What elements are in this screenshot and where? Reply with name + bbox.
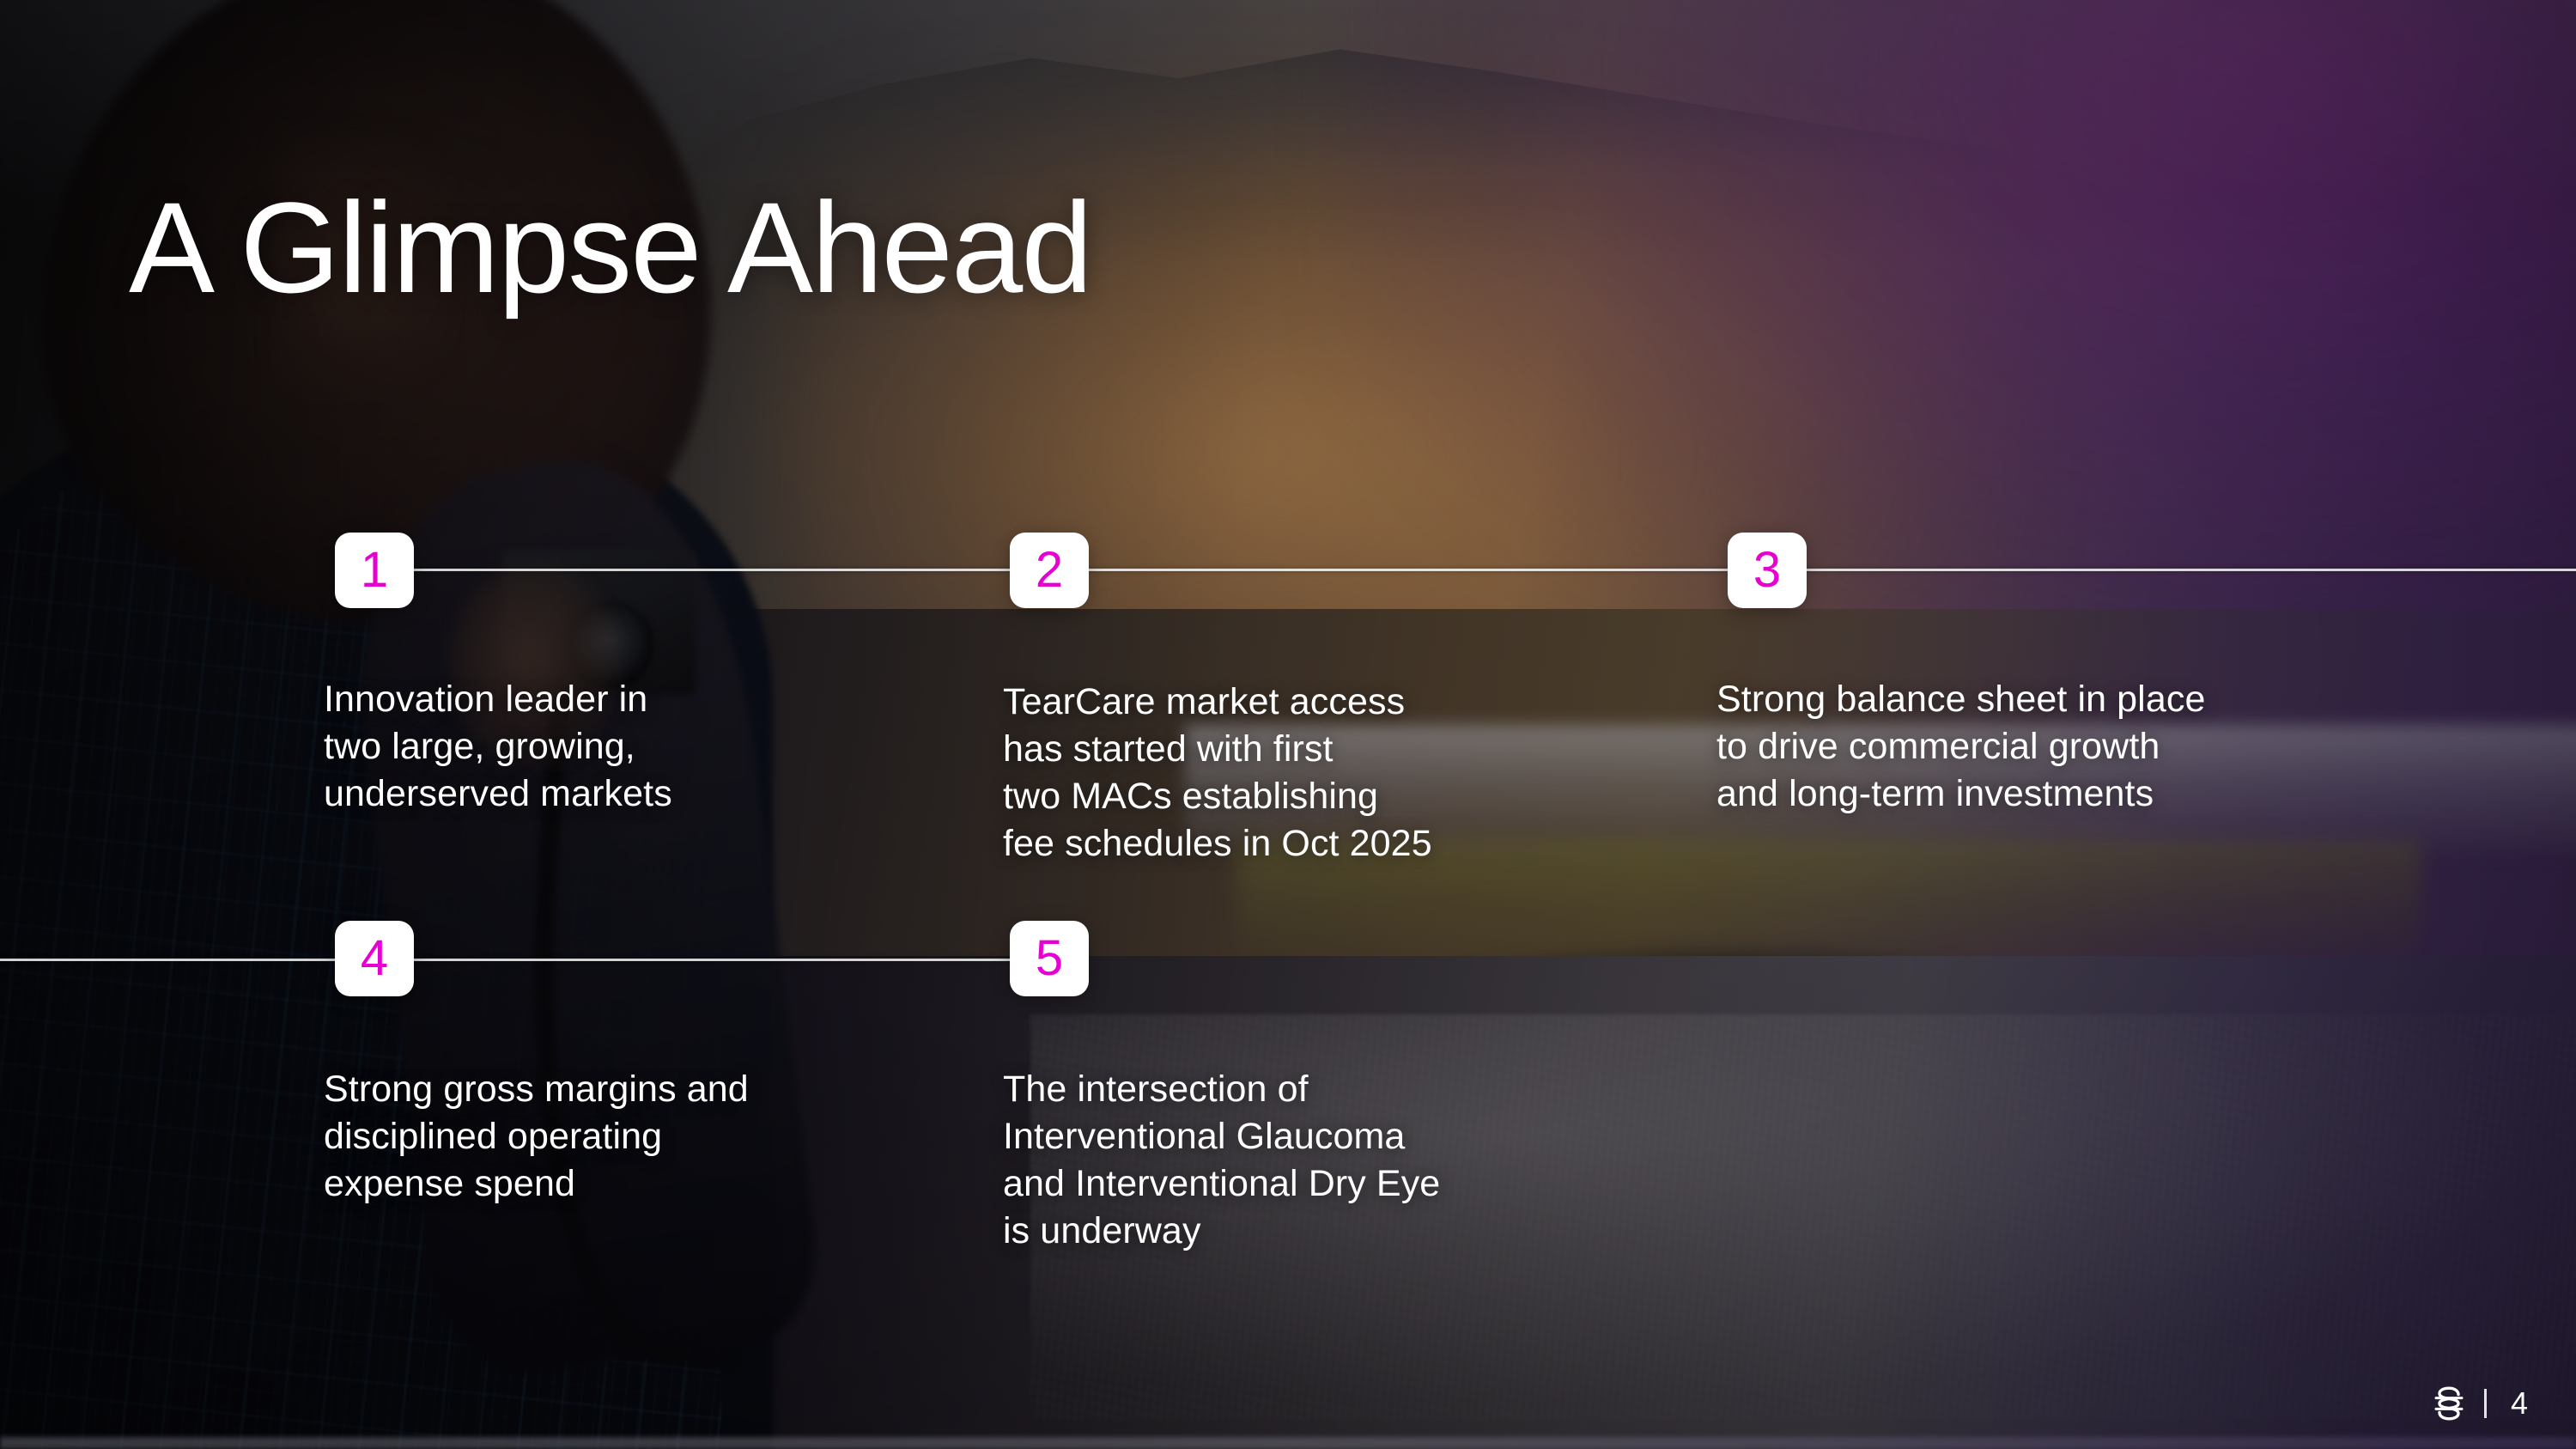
slide-footer: 4 xyxy=(2433,1385,2528,1422)
number-badge-4-label: 4 xyxy=(361,934,388,983)
number-badge-1: 1 xyxy=(335,533,414,608)
highlight-text-3: Strong balance sheet in place to drive c… xyxy=(1716,676,2369,818)
presentation-slide: A Glimpse Ahead 1 2 3 4 5 Innovation lea… xyxy=(0,0,2576,1449)
number-badge-2: 2 xyxy=(1010,533,1089,608)
number-badge-5: 5 xyxy=(1010,921,1089,996)
company-logo-icon xyxy=(2433,1385,2465,1422)
page-number: 4 xyxy=(2506,1388,2528,1419)
slide-content: A Glimpse Ahead 1 2 3 4 5 Innovation lea… xyxy=(0,0,2576,1449)
highlight-text-5: The intersection of Interventional Glauc… xyxy=(1003,1066,1604,1255)
timeline-rail-top xyxy=(404,569,2576,571)
timeline-rail-bottom xyxy=(0,959,1022,961)
highlight-text-2: TearCare market access has started with … xyxy=(1003,679,1604,868)
page-title: A Glimpse Ahead xyxy=(129,183,1091,312)
highlight-text-4: Strong gross margins and disciplined ope… xyxy=(324,1066,908,1208)
number-badge-2-label: 2 xyxy=(1036,545,1063,595)
number-badge-4: 4 xyxy=(335,921,414,996)
number-badge-3-label: 3 xyxy=(1753,545,1781,595)
number-badge-3: 3 xyxy=(1728,533,1807,608)
number-badge-5-label: 5 xyxy=(1036,934,1063,983)
footer-divider xyxy=(2484,1389,2487,1418)
number-badge-1-label: 1 xyxy=(361,545,388,595)
highlight-text-1: Innovation leader in two large, growing,… xyxy=(324,676,856,818)
